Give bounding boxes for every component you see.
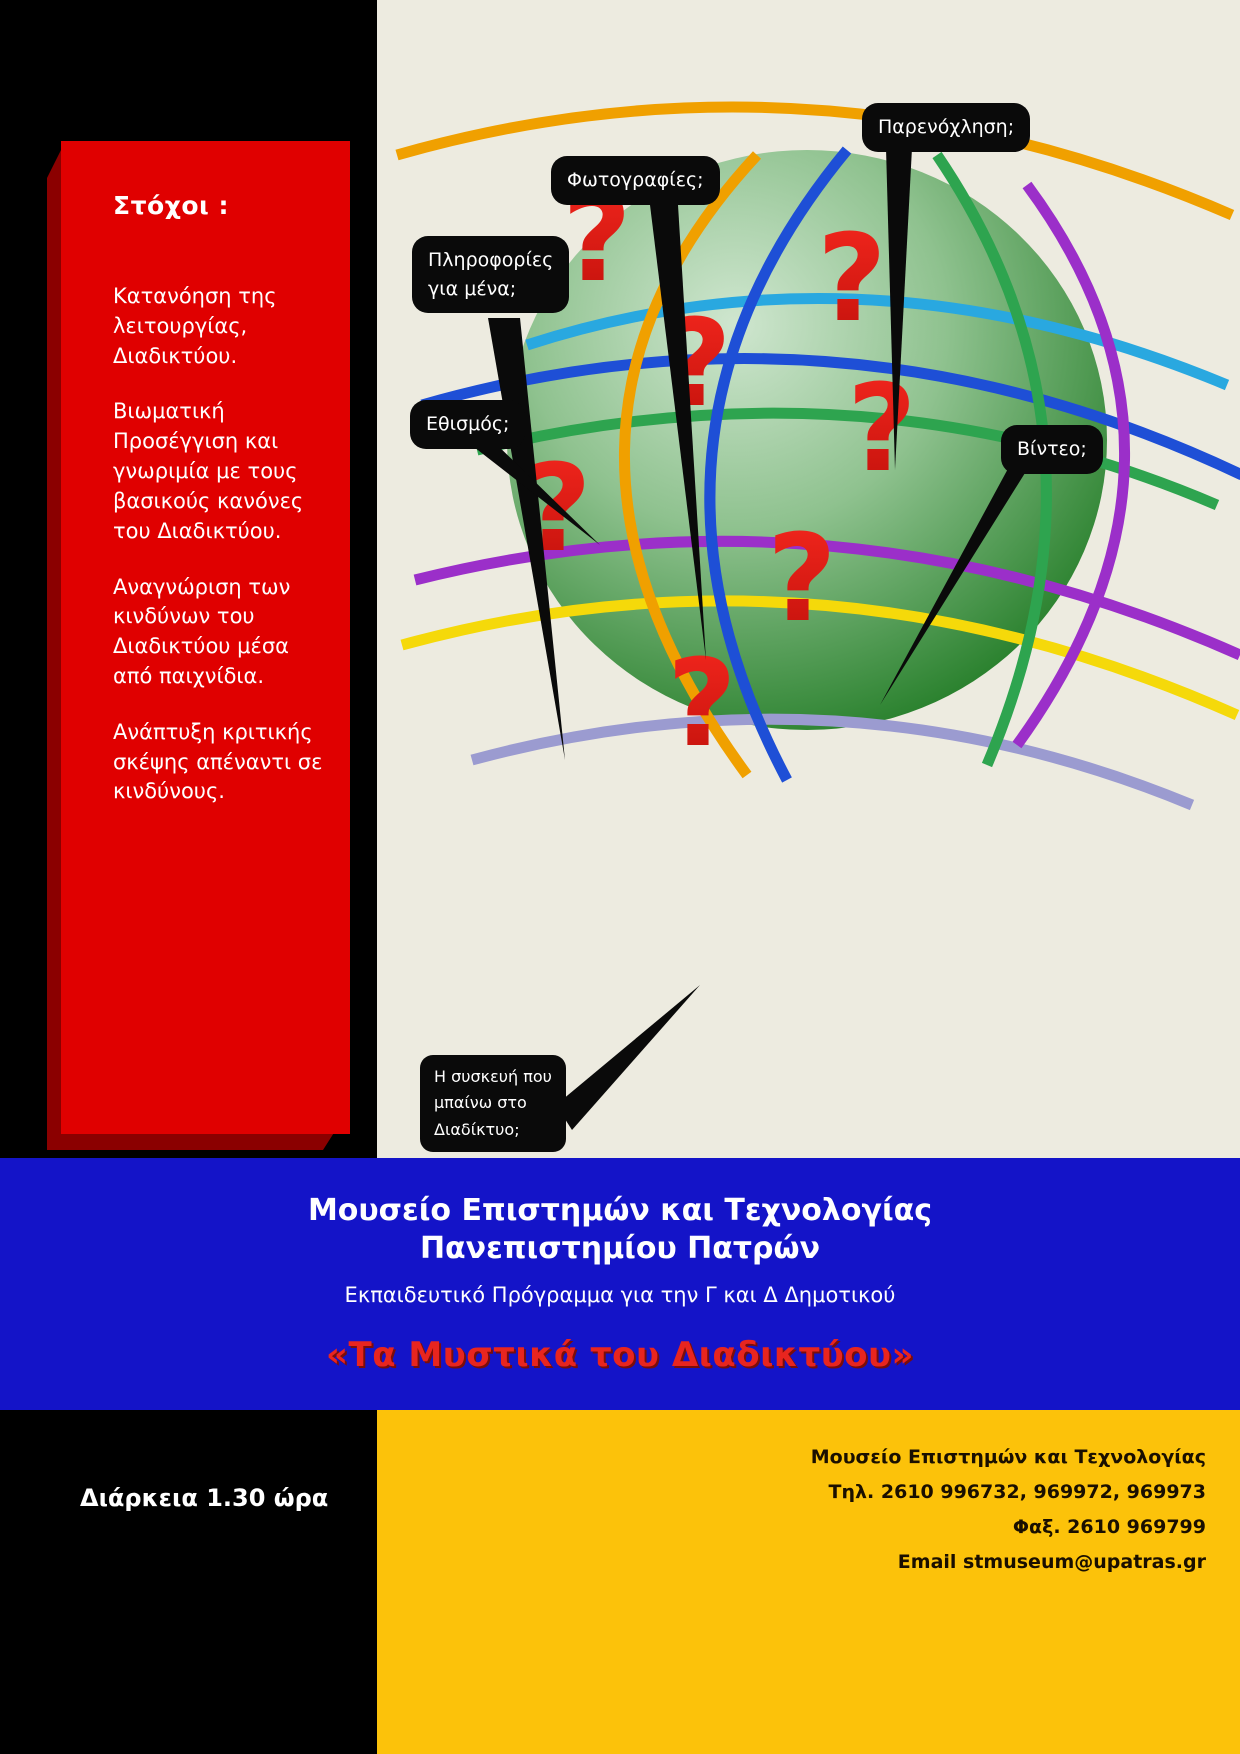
objective-item-3: Αναγνώριση των κινδύνων του Διαδικτύου μ…: [113, 573, 328, 692]
banner-program-title: «Τα Μυστικά του Διαδικτύου»: [0, 1335, 1240, 1375]
svg-text:?: ?: [847, 360, 917, 499]
contact-phone: Τηλ. 2610 996732, 969972, 969973: [811, 1475, 1206, 1510]
contact-email[interactable]: Email stmuseum@upatras.gr: [811, 1545, 1206, 1580]
bubble-ethismos[interactable]: Εθισμός;: [410, 400, 525, 449]
banner-institution-line2: Πανεπιστημίου Πατρών: [0, 1230, 1240, 1268]
illustration-stage: ? ? ? ? ? ? ?: [377, 0, 1240, 1158]
bubble-syskevi[interactable]: Η συσκευή που μπαίνω στο Διαδίκτυο;: [420, 1055, 566, 1152]
banner-program: Εκπαιδευτικό Πρόγραμμα για την Γ και Δ Δ…: [0, 1283, 1240, 1307]
footer-left-block: [0, 1410, 377, 1754]
objectives-panel: Στόχοι : Κατανόηση της λειτουργίας, Διαδ…: [61, 141, 350, 1134]
banner-institution-line1: Μουσείο Επιστημών και Τεχνολογίας: [0, 1192, 1240, 1230]
poster-root: ? ? ? ? ? ? ? Παρενόχληση; Φωτογραφίες; …: [0, 0, 1240, 1754]
bubble-vinteo[interactable]: Βίντεο;: [1001, 425, 1103, 474]
objectives-title: Στόχοι :: [113, 191, 328, 220]
objective-item-1: Κατανόηση της λειτουργίας, Διαδικτύου.: [113, 282, 328, 371]
contact-fax: Φαξ. 2610 969799: [811, 1510, 1206, 1545]
banner: Μουσείο Επιστημών και Τεχνολογίας Πανεπι…: [0, 1158, 1240, 1410]
svg-text:?: ?: [817, 210, 887, 349]
contact-org: Μουσείο Επιστημών και Τεχνολογίας: [811, 1440, 1206, 1475]
globe-illustration: ? ? ? ? ? ? ?: [377, 0, 1240, 1158]
objective-item-4: Ανάπτυξη κριτικής σκέψης απέναντι σε κιν…: [113, 718, 328, 807]
bubble-plirofories[interactable]: Πληροφορίες για μένα;: [412, 236, 569, 313]
svg-text:?: ?: [667, 635, 737, 774]
bubble-fotografies[interactable]: Φωτογραφίες;: [551, 156, 720, 205]
objective-item-2: Βιωματική Προσέγγιση και γνωριμία με του…: [113, 397, 328, 546]
footer-duration: Διάρκεια 1.30 ώρα: [80, 1484, 328, 1512]
bubble-parenochlisi[interactable]: Παρενόχληση;: [862, 103, 1030, 152]
svg-text:?: ?: [767, 510, 837, 649]
svg-text:?: ?: [662, 295, 732, 434]
footer-contact-box: Μουσείο Επιστημών και Τεχνολογίας Τηλ. 2…: [377, 1410, 1240, 1754]
svg-text:?: ?: [522, 440, 592, 579]
